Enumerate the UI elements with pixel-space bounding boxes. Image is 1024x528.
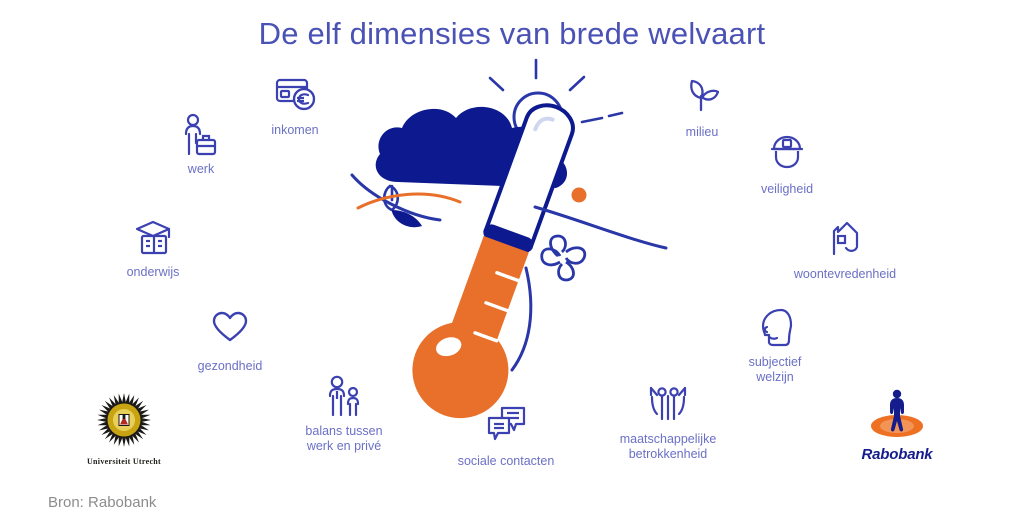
dimension-woontevredenheid[interactable]: woontevredenheid xyxy=(770,218,920,282)
house-icon xyxy=(770,218,920,262)
credit-card-euro-icon xyxy=(220,74,370,118)
dimension-maatschappelijke-betrokkenheid[interactable]: maatschappelijke betrokkenheid xyxy=(593,383,743,462)
dimension-onderwijs[interactable]: onderwijs xyxy=(78,216,228,280)
rabobank-figure-emblem-icon xyxy=(838,386,956,445)
utrecht-sun-emblem-icon xyxy=(62,392,186,453)
dimension-label: gezondheid xyxy=(155,359,305,374)
dimension-milieu[interactable]: milieu xyxy=(627,76,777,140)
graduation-book-icon xyxy=(78,216,228,260)
person-briefcase-icon xyxy=(126,113,276,157)
dimension-label: veiligheid xyxy=(712,182,862,197)
speech-bubbles-icon xyxy=(431,405,581,449)
logo-universiteit-utrecht-label: Universiteit Utrecht xyxy=(62,457,186,466)
dimension-label: sociale contacten xyxy=(431,454,581,469)
dimension-gezondheid[interactable]: gezondheid xyxy=(155,310,305,374)
dimension-label: woontevredenheid xyxy=(770,267,920,282)
dimension-label: onderwijs xyxy=(78,265,228,280)
source-note: Bron: Rabobank xyxy=(48,494,156,511)
dimension-label: balans tussen werk en privé xyxy=(269,424,419,454)
sprout-leaf-icon xyxy=(627,76,777,120)
logo-universiteit-utrecht: Universiteit Utrecht xyxy=(62,392,186,466)
dimension-label: werk xyxy=(126,162,276,177)
heart-icon xyxy=(155,310,305,354)
dimension-balans-werk-prive[interactable]: balans tussen werk en privé xyxy=(269,375,419,454)
dimension-subjectief-welzijn[interactable]: subjectief welzijn xyxy=(700,306,850,385)
parent-child-icon xyxy=(269,375,419,419)
logo-rabobank-label: Rabobank xyxy=(838,446,956,463)
dimension-label: maatschappelijke betrokkenheid xyxy=(593,432,743,462)
page-title: De elf dimensies van brede welvaart xyxy=(0,16,1024,52)
flower-icon xyxy=(542,236,585,280)
head-profile-icon xyxy=(700,306,850,350)
dimension-werk[interactable]: werk xyxy=(126,113,276,177)
orange-dot-icon xyxy=(572,188,587,203)
dimension-label: milieu xyxy=(627,125,777,140)
dimension-veiligheid[interactable]: veiligheid xyxy=(712,133,862,197)
people-raised-arms-icon xyxy=(593,383,743,427)
logo-rabobank: Rabobank xyxy=(838,386,956,463)
dimension-label: subjectief welzijn xyxy=(700,355,850,385)
leaf-sprig-icon xyxy=(384,186,422,227)
infographic-canvas: De elf dimensies van brede welvaart xyxy=(0,0,1024,528)
dimension-sociale-contacten[interactable]: sociale contacten xyxy=(431,405,581,469)
